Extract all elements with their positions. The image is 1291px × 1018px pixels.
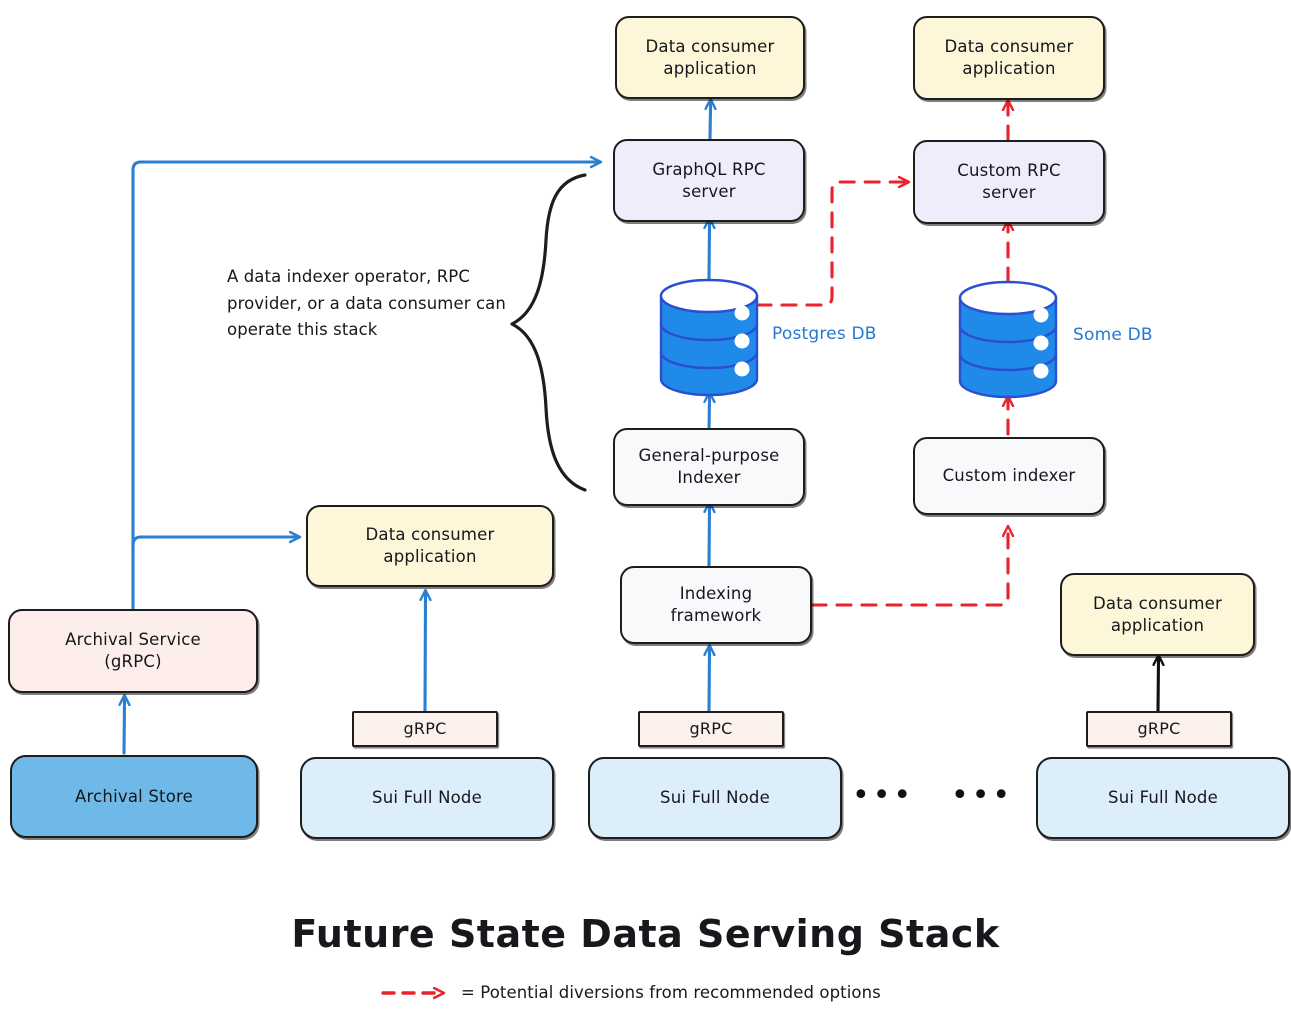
indexing-framework-line2: framework <box>671 605 762 627</box>
archival-service-line1: Archival Service <box>65 629 201 651</box>
archival-store-box[interactable]: Archival Store <box>10 755 258 838</box>
sui-full-node-2[interactable]: Sui Full Node <box>588 757 842 839</box>
some-db-label: Some DB <box>1073 325 1153 345</box>
edge-grpc3-to-consumer <box>1158 659 1159 711</box>
graphql-rpc-line2: server <box>652 181 765 203</box>
indexing-framework-line1: Indexing <box>671 583 762 605</box>
grpc-tab-1-label: gRPC <box>404 718 447 739</box>
consumer-archival-line1: Data consumer <box>366 524 495 546</box>
custom-rpc-server-box[interactable]: Custom RPC server <box>913 140 1105 224</box>
consumer-archival-box[interactable]: Data consumer application <box>306 505 554 587</box>
edge-postgres-to-graphql <box>709 222 710 280</box>
edge-graphql-to-consumer <box>710 103 711 139</box>
edge-service-branch-consumer <box>133 537 296 545</box>
grpc-tab-1[interactable]: gRPC <box>352 711 498 747</box>
custom-rpc-line1: Custom RPC <box>957 160 1060 182</box>
custom-indexer-box[interactable]: Custom indexer <box>913 437 1105 515</box>
edge-store-to-service <box>124 699 125 753</box>
consumer-custom-line2: application <box>945 58 1074 80</box>
sui-full-node-2-label: Sui Full Node <box>660 787 770 809</box>
graphql-rpc-line1: GraphQL RPC <box>652 159 765 181</box>
indexing-framework-box[interactable]: Indexing framework <box>620 566 812 644</box>
sui-full-node-1-label: Sui Full Node <box>372 787 482 809</box>
consumer-rightnode-box[interactable]: Data consumer application <box>1060 573 1255 656</box>
consumer-rightnode-line1: Data consumer <box>1093 593 1222 615</box>
sui-full-node-3[interactable]: Sui Full Node <box>1036 757 1290 839</box>
edge-grpc1-to-consumer <box>425 594 426 711</box>
archival-store-line1: Archival Store <box>75 786 193 808</box>
stack-operator-annotation: A data indexer operator, RPC provider, o… <box>227 264 507 344</box>
edge-indexer-to-postgres <box>709 396 710 432</box>
ellipsis-left: ••• <box>852 781 914 811</box>
some-db-cylinder <box>960 282 1056 397</box>
sui-full-node-1[interactable]: Sui Full Node <box>300 757 554 839</box>
consumer-archival-line2: application <box>366 546 495 568</box>
grpc-tab-3[interactable]: gRPC <box>1086 711 1232 747</box>
archival-service-line2: (gRPC) <box>65 651 201 673</box>
consumer-graphql-box[interactable]: Data consumer application <box>615 16 805 99</box>
ellipsis-right: ••• <box>951 781 1013 811</box>
diagram-canvas: Data consumer application Data consumer … <box>0 0 1291 1018</box>
postgres-db-cylinder <box>661 280 757 395</box>
sui-full-node-3-label: Sui Full Node <box>1108 787 1218 809</box>
grpc-tab-2-label: gRPC <box>690 718 733 739</box>
grpc-tab-2[interactable]: gRPC <box>638 711 784 747</box>
general-indexer-line2: Indexer <box>638 467 779 489</box>
general-purpose-indexer-box[interactable]: General-purpose Indexer <box>613 428 805 506</box>
consumer-custom-line1: Data consumer <box>945 36 1074 58</box>
custom-indexer-line1: Custom indexer <box>943 465 1076 487</box>
graphql-rpc-server-box[interactable]: GraphQL RPC server <box>613 139 805 222</box>
consumer-graphql-line1: Data consumer <box>646 36 775 58</box>
edge-framework-to-indexer <box>709 506 710 566</box>
consumer-graphql-line2: application <box>646 58 775 80</box>
grpc-tab-3-label: gRPC <box>1138 718 1181 739</box>
consumer-custom-box[interactable]: Data consumer application <box>913 16 1105 100</box>
custom-rpc-line2: server <box>957 182 1060 204</box>
diagram-title: Future State Data Serving Stack <box>0 912 1291 956</box>
curly-brace <box>512 175 585 490</box>
edge-framework-to-custom-indexer <box>812 530 1008 605</box>
legend-label: = Potential diversions from recommended … <box>461 983 881 1002</box>
edge-grpc2-to-framework <box>709 649 710 711</box>
consumer-rightnode-line2: application <box>1093 615 1222 637</box>
general-indexer-line1: General-purpose <box>638 445 779 467</box>
postgres-db-label: Postgres DB <box>772 324 877 344</box>
archival-service-box[interactable]: Archival Service (gRPC) <box>8 609 258 693</box>
